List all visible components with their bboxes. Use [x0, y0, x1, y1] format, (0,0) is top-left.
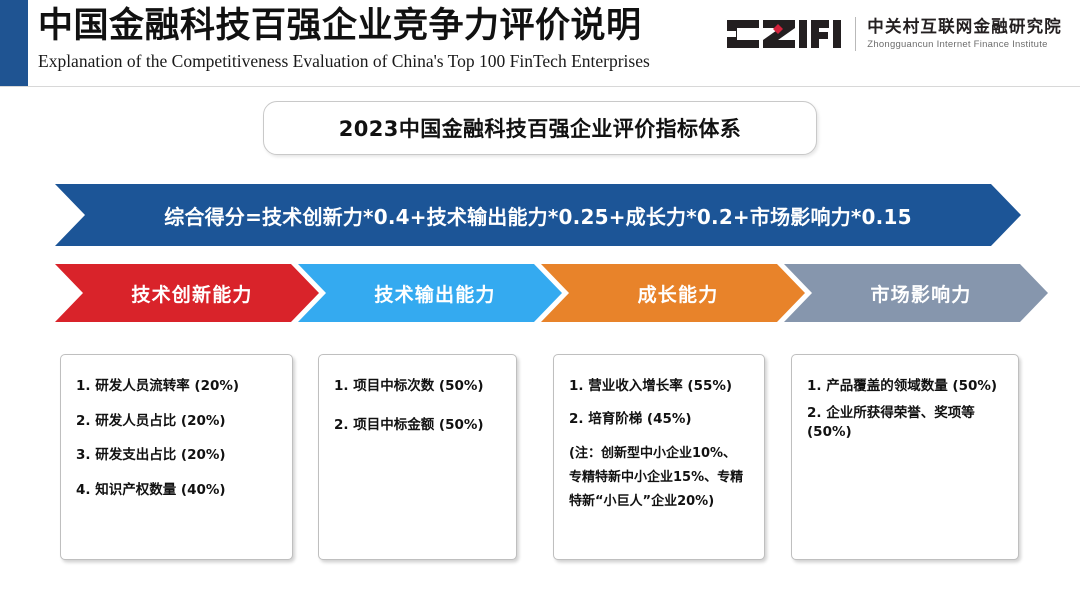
page-title-cn: 中国金融科技百强企业竞争力评价说明: [38, 4, 738, 49]
header-accent-bar: [0, 0, 28, 86]
page-title-en: Explanation of the Competitiveness Evalu…: [38, 51, 738, 72]
chevron-market-influence[interactable]: 市场影响力: [784, 264, 1048, 322]
header-block: 中国金融科技百强企业竞争力评价说明 Explanation of the Com…: [38, 4, 738, 72]
index-system-pill: 2023中国金融科技百强企业评价指标体系: [263, 101, 817, 155]
indicator-item: 2. 培育阶梯 (45%): [569, 410, 749, 430]
score-formula-text: 综合得分=技术创新力*0.4+技术输出能力*0.25+成长力*0.2+市场影响力…: [164, 201, 911, 230]
chevron-label: 技术输出能力: [364, 280, 495, 307]
header-divider: [0, 86, 1080, 87]
chevron-tech-output[interactable]: 技术输出能力: [298, 264, 562, 322]
index-system-title: 2023中国金融科技百强企业评价指标体系: [339, 113, 741, 143]
logo-divider: [855, 17, 856, 51]
indicator-card-tech-innovation: 1. 研发人员流转率 (20%) 2. 研发人员占比 (20%) 3. 研发支出…: [60, 354, 293, 560]
indicator-note: (注：创新型中小企业10%、专精特新中小企业15%、专精特新“小巨人”企业20%…: [569, 442, 749, 514]
indicator-item: 1. 产品覆盖的领域数量 (50%): [807, 377, 1003, 397]
dimension-chevron-row: 技术创新能力 技术输出能力 成长能力 市场影响力: [0, 264, 1080, 324]
chevron-label: 市场影响力: [860, 280, 971, 307]
indicator-card-growth: 1. 营业收入增长率 (55%) 2. 培育阶梯 (45%) (注：创新型中小企…: [553, 354, 765, 560]
indicator-card-row: 1. 研发人员流转率 (20%) 2. 研发人员占比 (20%) 3. 研发支出…: [0, 354, 1080, 569]
logo-text: 中关村互联网金融研究院 Zhongguancun Internet Financ…: [867, 18, 1062, 50]
chevron-label: 成长能力: [628, 280, 719, 307]
indicator-item: 2. 企业所获得荣誉、奖项等 (50%): [807, 404, 1003, 443]
indicator-item: 1. 项目中标次数 (50%): [334, 377, 501, 397]
indicator-item: 2. 项目中标金额 (50%): [334, 416, 501, 436]
indicator-item: 1. 研发人员流转率 (20%): [76, 377, 277, 397]
indicator-card-market-influence: 1. 产品覆盖的领域数量 (50%) 2. 企业所获得荣誉、奖项等 (50%): [791, 354, 1019, 560]
indicator-item: 3. 研发支出占比 (20%): [76, 446, 277, 466]
indicator-item: 2. 研发人员占比 (20%): [76, 412, 277, 432]
logo-name-en: Zhongguancun Internet Finance Institute: [867, 40, 1062, 50]
institute-logo: 中关村互联网金融研究院 Zhongguancun Internet Financ…: [725, 10, 1062, 58]
czifi-wordmark-icon: [725, 18, 843, 50]
indicator-item: 4. 知识产权数量 (40%): [76, 481, 277, 501]
chevron-tech-innovation[interactable]: 技术创新能力: [55, 264, 319, 322]
chevron-growth[interactable]: 成长能力: [541, 264, 805, 322]
indicator-item: 1. 营业收入增长率 (55%): [569, 377, 749, 397]
indicator-card-tech-output: 1. 项目中标次数 (50%) 2. 项目中标金额 (50%): [318, 354, 517, 560]
chevron-label: 技术创新能力: [121, 280, 252, 307]
score-formula-banner: 综合得分=技术创新力*0.4+技术输出能力*0.25+成长力*0.2+市场影响力…: [55, 184, 1021, 246]
slide-canvas: 中国金融科技百强企业竞争力评价说明 Explanation of the Com…: [0, 0, 1080, 608]
logo-name-cn: 中关村互联网金融研究院: [867, 17, 1062, 36]
